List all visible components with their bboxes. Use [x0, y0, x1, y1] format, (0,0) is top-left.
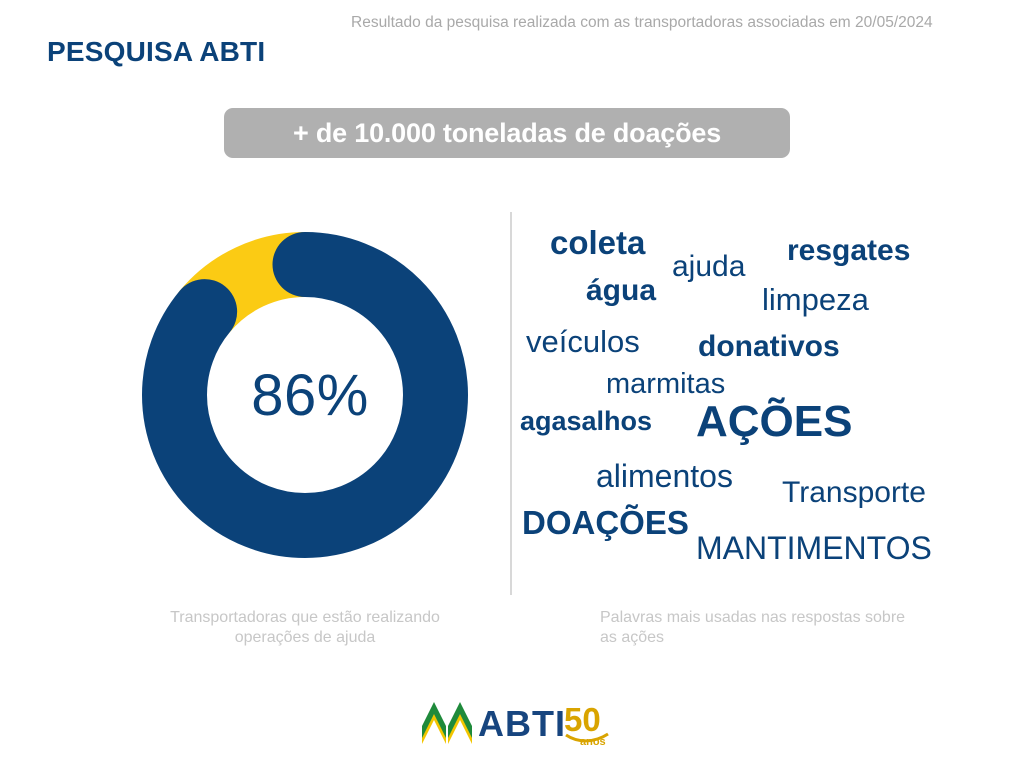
donut-chart: 86% — [120, 200, 500, 600]
anniversary-label: anos — [580, 736, 606, 747]
wordcloud-word: AÇÕES — [696, 400, 852, 444]
wordcloud-caption: Palavras mais usadas nas respostas sobre… — [600, 608, 920, 649]
wordcloud-word: DOAÇÕES — [522, 506, 689, 539]
wordcloud-word: marmitas — [606, 370, 725, 399]
survey-meta-text: Resultado da pesquisa realizada com as t… — [351, 14, 933, 32]
wordcloud-word: ajuda — [672, 252, 745, 282]
highlight-banner: + de 10.000 toneladas de doações — [224, 108, 790, 158]
donut-caption: Transportadoras que estão realizando ope… — [155, 608, 455, 649]
wordcloud-word: resgates — [787, 236, 910, 266]
donut-chart-svg — [120, 200, 500, 600]
anniversary-number: 50 — [564, 701, 601, 738]
donut-segment-primary — [175, 265, 436, 526]
highlight-banner-label: + de 10.000 toneladas de doações — [293, 118, 721, 149]
wordcloud-word: limpeza — [762, 284, 869, 315]
wordcloud-word: alimentos — [596, 460, 733, 492]
abti-logo-mark-icon — [420, 702, 474, 746]
abti-logo: ABTI 50 anos — [420, 697, 610, 751]
infographic-canvas: PESQUISA ABTI Resultado da pesquisa real… — [0, 0, 1024, 768]
abti-logo-anniversary: 50 anos — [564, 701, 614, 747]
wordcloud-word: coleta — [550, 226, 645, 259]
page-title: PESQUISA ABTI — [47, 36, 265, 68]
wordcloud-word: Transporte — [782, 478, 926, 508]
wordcloud: coletaresgatesajudalimpezaáguaveículosdo… — [510, 200, 1024, 600]
wordcloud-word: água — [586, 276, 656, 306]
wordcloud-word: veículos — [526, 326, 640, 357]
anniversary-badge-icon: 50 anos — [564, 701, 614, 747]
wordcloud-word: MANTIMENTOS — [696, 532, 932, 564]
abti-logo-wordmark: ABTI — [478, 706, 566, 742]
wordcloud-word: donativos — [698, 332, 840, 362]
wordcloud-word: agasalhos — [520, 408, 652, 435]
